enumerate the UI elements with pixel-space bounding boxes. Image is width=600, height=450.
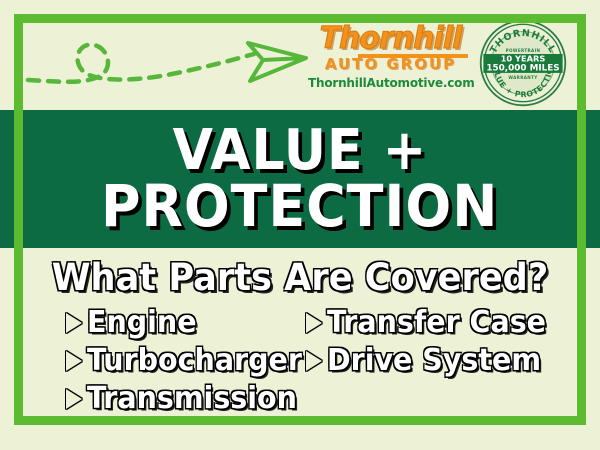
list-item: Transfer Case xyxy=(306,304,556,342)
triangle-bullet-icon xyxy=(66,313,82,333)
triangle-bullet-icon xyxy=(306,351,322,371)
coverage-section: What Parts Are Covered? Engine Turbochar… xyxy=(0,250,600,430)
brand-website: ThornhillAutomotive.com xyxy=(308,76,473,90)
list-item: Engine xyxy=(66,304,306,342)
headline-line-2: PROTECTION xyxy=(101,179,498,234)
seal-years-text: 10 YEARS xyxy=(501,54,546,64)
warranty-seal-badge: THORNHILL VALUE + PROTECTION POWERTRAIN … xyxy=(478,18,568,108)
coverage-item-label: Turbocharger xyxy=(87,345,302,377)
coverage-item-label: Transmission xyxy=(87,383,297,415)
list-item: Drive System xyxy=(306,342,556,380)
coverage-item-label: Engine xyxy=(87,307,197,339)
seal-powertrain-text: POWERTRAIN xyxy=(506,48,541,53)
seal-warranty-text: WARRANTY xyxy=(508,75,538,80)
triangle-bullet-icon xyxy=(306,313,322,333)
headline-block: VALUE + PROTECTION xyxy=(0,110,600,248)
brand-logo: Thornhill AUTO GROUP ThornhillAutomotive… xyxy=(308,24,473,104)
paper-plane-arrow-icon xyxy=(248,43,306,81)
header-zone: Thornhill AUTO GROUP ThornhillAutomotive… xyxy=(0,0,600,110)
list-item: Transmission xyxy=(66,380,306,418)
flight-path-icon xyxy=(22,18,312,108)
headline-line-1: VALUE + xyxy=(173,124,428,177)
triangle-bullet-icon xyxy=(66,351,82,371)
coverage-item-label: Transfer Case xyxy=(327,307,546,339)
coverage-column-right: Transfer Case Drive System xyxy=(306,304,556,380)
coverage-item-label: Drive System xyxy=(327,345,541,377)
coverage-column-left: Engine Turbocharger Transmission xyxy=(66,304,306,418)
coverage-columns: Engine Turbocharger Transmission Transfe… xyxy=(0,304,600,418)
list-item: Turbocharger xyxy=(66,342,306,380)
seal-miles-text: 150,000 MILES xyxy=(486,64,559,74)
coverage-question: What Parts Are Covered? xyxy=(15,256,585,300)
brand-underline xyxy=(358,54,468,58)
brand-name: Thornhill xyxy=(320,24,462,54)
promo-banner: Thornhill AUTO GROUP ThornhillAutomotive… xyxy=(0,0,600,450)
triangle-bullet-icon xyxy=(66,389,82,409)
